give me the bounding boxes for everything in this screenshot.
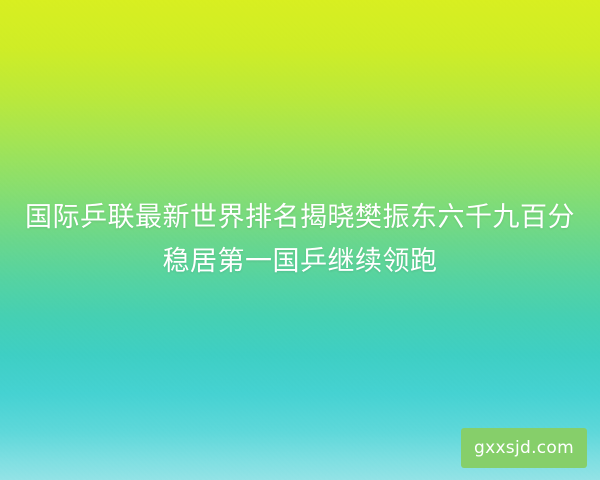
watermark-badge: gxxsjd.com xyxy=(461,428,587,468)
image-canvas: 国际乒联最新世界排名揭晓樊振东六千九百分稳居第一国乒继续领跑 gxxsjd.co… xyxy=(0,0,600,480)
headline-text: 国际乒联最新世界排名揭晓樊振东六千九百分稳居第一国乒继续领跑 xyxy=(0,196,600,284)
watermark-label: gxxsjd.com xyxy=(474,438,574,458)
